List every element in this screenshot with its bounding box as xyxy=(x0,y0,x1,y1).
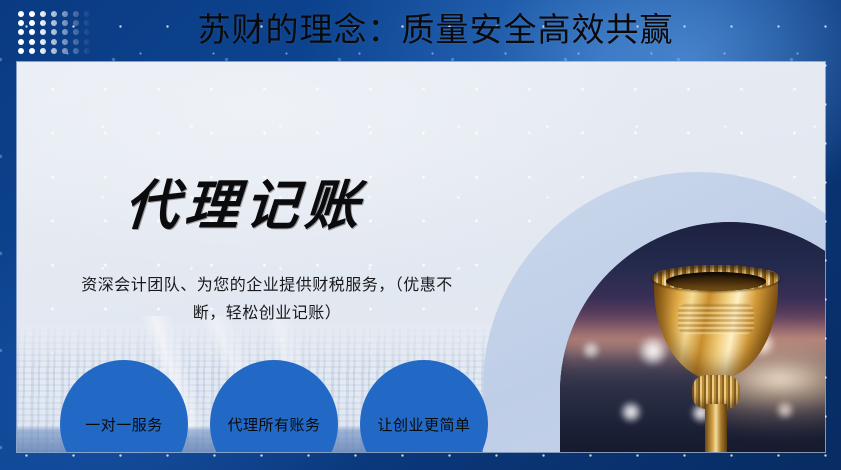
feature-circle-2-label: 代理所有账务 xyxy=(227,414,320,435)
trophy-inner-bowl xyxy=(666,272,766,291)
trophy-engraving xyxy=(678,304,754,334)
trophy-stem xyxy=(705,404,727,452)
subtitle-text: 资深会计团队、为您的企业提供财税服务，（优惠不断，轻松创业记账） xyxy=(72,272,462,328)
feature-circle-1[interactable]: 一对一服务 xyxy=(60,360,188,452)
content-panel: 代理记账 资深会计团队、为您的企业提供财税服务，（优惠不断，轻松创业记账） 一对… xyxy=(17,62,825,452)
page-title: 苏财的理念：质量安全高效共赢 xyxy=(0,8,841,52)
main-heading: 代理记账 xyxy=(123,174,367,236)
slide-root: 苏财的理念：质量安全高效共赢 xyxy=(0,0,841,470)
feature-circle-3[interactable]: 让创业更简单 xyxy=(360,360,488,452)
feature-circle-3-label: 让创业更简单 xyxy=(377,414,470,435)
feature-circle-group: 一对一服务 代理所有账务 让创业更简单 xyxy=(60,360,500,452)
trophy-photo xyxy=(560,222,825,452)
feature-circle-2[interactable]: 代理所有账务 xyxy=(210,360,338,452)
feature-circle-1-label: 一对一服务 xyxy=(85,414,163,435)
